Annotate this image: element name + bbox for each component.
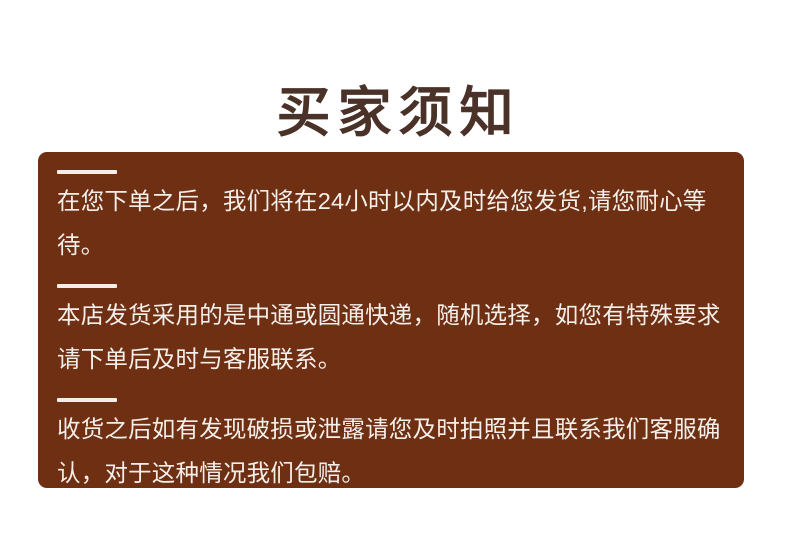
list-item: 收货之后如有发现破损或泄露请您及时拍照并且联系我们客服确认，对于这种情况我们包赔… (38, 398, 744, 488)
notice-list: 在您下单之后，我们将在24小时以内及时给您发货,请您耐心等待。 本店发货采用的是… (38, 170, 744, 488)
buyer-notice-page: 买家须知 在您下单之后，我们将在24小时以内及时给您发货,请您耐心等待。 本店发… (0, 0, 790, 548)
notice-text-shipping-time: 在您下单之后，我们将在24小时以内及时给您发货,请您耐心等待。 (57, 179, 742, 267)
buyer-notice-card: 在您下单之后，我们将在24小时以内及时给您发货,请您耐心等待。 本店发货采用的是… (38, 152, 744, 488)
divider-dash-icon (57, 170, 117, 174)
notice-text-damage-claim: 收货之后如有发现破损或泄露请您及时拍照并且联系我们客服确认，对于这种情况我们包赔… (57, 407, 742, 488)
list-item: 在您下单之后，我们将在24小时以内及时给您发货,请您耐心等待。 (38, 170, 744, 267)
divider-dash-icon (57, 398, 117, 402)
divider-dash-icon (57, 284, 117, 288)
list-item: 本店发货采用的是中通或圆通快递，随机选择，如您有特殊要求请下单后及时与客服联系。 (38, 284, 744, 381)
notice-text-courier-choice: 本店发货采用的是中通或圆通快递，随机选择，如您有特殊要求请下单后及时与客服联系。 (57, 293, 742, 381)
page-title: 买家须知 (270, 80, 521, 144)
